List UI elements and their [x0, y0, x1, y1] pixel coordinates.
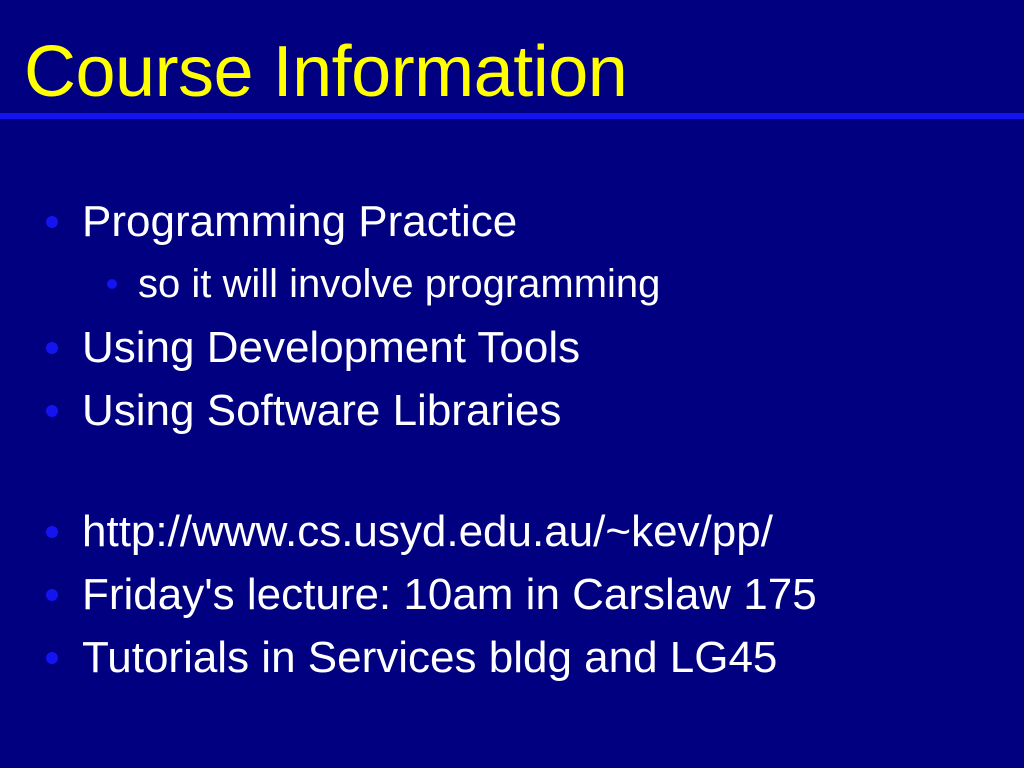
list-spacer — [0, 442, 1024, 500]
list-item: so it will involve programming — [0, 253, 1024, 316]
list-item-label: Using Development Tools — [82, 316, 580, 379]
bullet-icon — [46, 589, 58, 601]
bullet-icon — [46, 216, 58, 228]
list-item: Tutorials in Services bldg and LG45 — [0, 626, 1024, 689]
list-item-label: Using Software Libraries — [82, 379, 561, 442]
list-item: Friday's lecture: 10am in Carslaw 175 — [0, 563, 1024, 626]
slide-body-list: Programming Practice so it will involve … — [0, 190, 1024, 689]
list-item-label: so it will involve programming — [138, 253, 660, 316]
list-item: Programming Practice — [0, 190, 1024, 253]
bullet-icon — [46, 526, 58, 538]
page-title: Course Information — [24, 34, 627, 110]
course-website-url[interactable]: http://www.cs.usyd.edu.au/~kev/pp/ — [82, 500, 773, 563]
bullet-icon — [46, 652, 58, 664]
list-item-label: Tutorials in Services bldg and LG45 — [82, 626, 777, 689]
bullet-icon — [46, 342, 58, 354]
bullet-icon — [107, 279, 117, 289]
list-item-label: Programming Practice — [82, 190, 517, 253]
bullet-icon — [46, 405, 58, 417]
presentation-slide: Course Information Programming Practice … — [0, 0, 1024, 768]
title-divider — [0, 113, 1024, 119]
list-item: Using Development Tools — [0, 316, 1024, 379]
list-item: Using Software Libraries — [0, 379, 1024, 442]
list-item-label: Friday's lecture: 10am in Carslaw 175 — [82, 563, 817, 626]
list-item: http://www.cs.usyd.edu.au/~kev/pp/ — [0, 500, 1024, 563]
